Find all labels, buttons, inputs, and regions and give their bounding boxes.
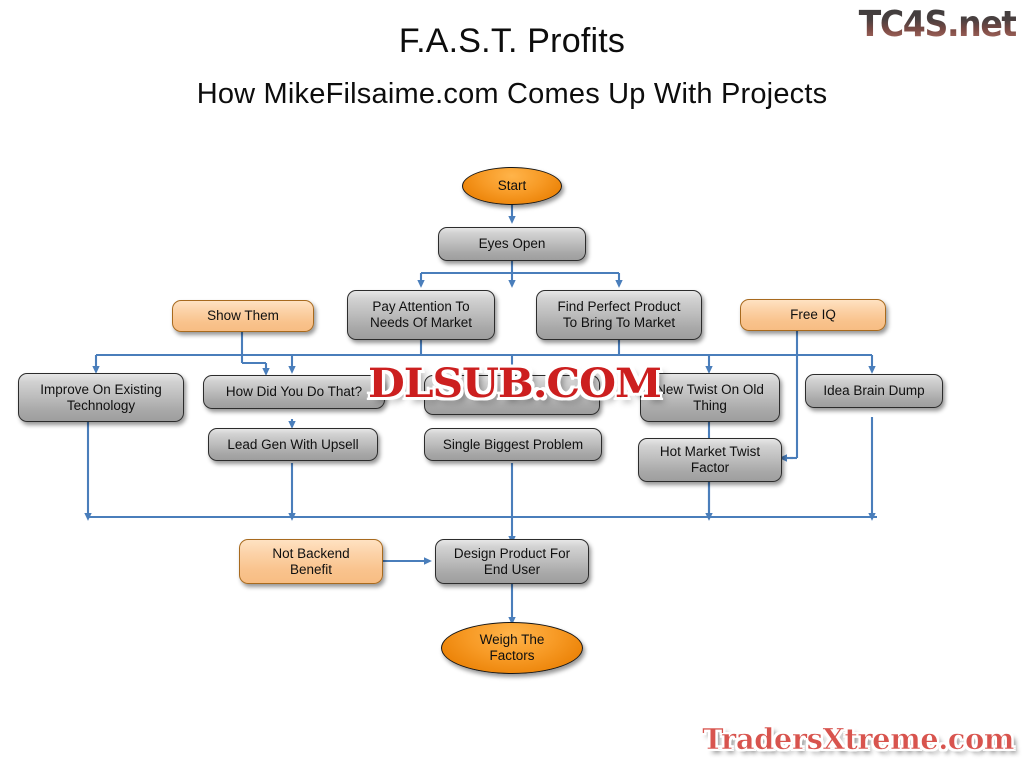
node-show-them[interactable]: Show Them xyxy=(172,300,314,332)
node-improve-on-existing-technology[interactable]: Improve On Existing Technology xyxy=(18,373,184,422)
node-how-did-you-do-that-label: How Did You Do That? xyxy=(226,384,362,400)
node-eyes-open-label: Eyes Open xyxy=(479,236,546,252)
node-not-backend-line1: Not Backend xyxy=(272,546,349,562)
node-idea-brain-dump[interactable]: Idea Brain Dump xyxy=(805,374,943,408)
node-eyes-open[interactable]: Eyes Open xyxy=(438,227,586,261)
node-find-perfect-product-line2: To Bring To Market xyxy=(563,315,675,331)
node-show-them-label: Show Them xyxy=(207,308,279,324)
node-not-backend-line2: Benefit xyxy=(290,562,332,578)
slide-canvas: F.A.S.T. Profits How MikeFilsaime.com Co… xyxy=(0,0,1024,768)
node-pay-attention[interactable]: Pay Attention To Needs Of Market xyxy=(347,290,495,340)
node-new-twist-line1: New Twist On Old xyxy=(656,382,764,398)
node-weigh-line2: Factors xyxy=(489,648,534,664)
node-weigh-the-factors[interactable]: Weigh The Factors xyxy=(441,622,583,674)
node-hot-market-twist-factor[interactable]: Hot Market Twist Factor xyxy=(638,438,782,482)
node-single-biggest-problem-label: Single Biggest Problem xyxy=(443,437,583,453)
node-free-iq-label: Free IQ xyxy=(790,307,836,323)
node-weigh-line1: Weigh The xyxy=(480,632,545,648)
node-improve-tech-line1: Improve On Existing xyxy=(40,382,162,398)
dlsub-watermark: DLSUB.COM xyxy=(368,360,661,407)
node-not-backend-benefit[interactable]: Not Backend Benefit xyxy=(239,539,383,584)
node-start-label: Start xyxy=(498,178,527,194)
node-start[interactable]: Start xyxy=(462,167,562,205)
node-pay-attention-line1: Pay Attention To xyxy=(372,299,469,315)
node-how-did-you-do-that[interactable]: How Did You Do That? xyxy=(203,375,385,409)
node-lead-gen-with-upsell[interactable]: Lead Gen With Upsell xyxy=(208,428,378,461)
node-design-product-line2: End User xyxy=(484,562,540,578)
node-new-twist-line2: Thing xyxy=(693,398,727,414)
node-single-biggest-problem[interactable]: Single Biggest Problem xyxy=(424,428,602,461)
node-pay-attention-line2: Needs Of Market xyxy=(370,315,472,331)
node-find-perfect-product-line1: Find Perfect Product xyxy=(557,299,680,315)
node-design-product-for-end-user[interactable]: Design Product For End User xyxy=(435,539,589,584)
node-new-twist-on-old-thing[interactable]: New Twist On Old Thing xyxy=(640,373,780,422)
node-free-iq[interactable]: Free IQ xyxy=(740,299,886,331)
node-idea-brain-dump-label: Idea Brain Dump xyxy=(823,383,924,399)
node-lead-gen-label: Lead Gen With Upsell xyxy=(227,437,358,453)
node-hot-market-line1: Hot Market Twist xyxy=(660,444,760,460)
node-find-perfect-product[interactable]: Find Perfect Product To Bring To Market xyxy=(536,290,702,340)
node-hot-market-line2: Factor xyxy=(691,460,729,476)
node-design-product-line1: Design Product For xyxy=(454,546,570,562)
node-improve-tech-line2: Technology xyxy=(67,398,135,414)
